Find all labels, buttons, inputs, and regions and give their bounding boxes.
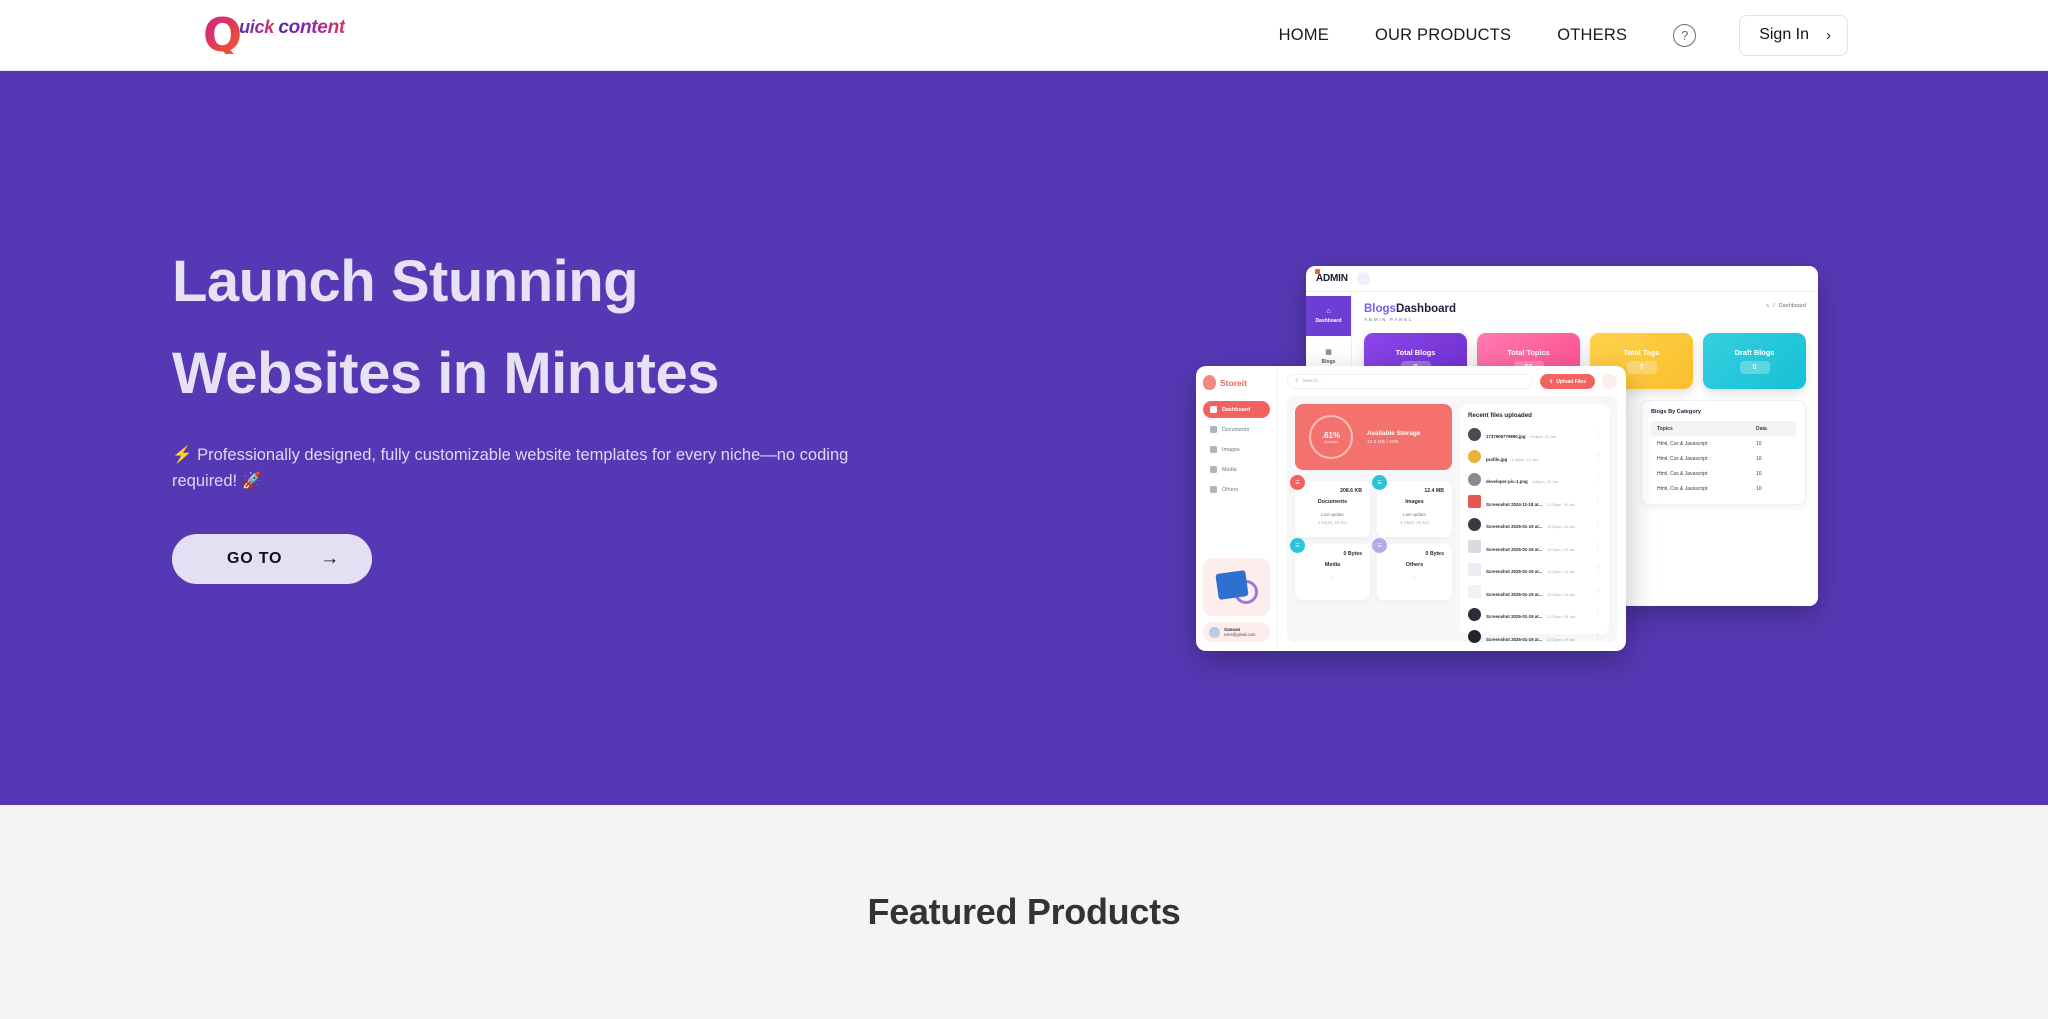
file-thumbnail	[1468, 630, 1481, 643]
breadcrumb-separator: /	[1773, 303, 1775, 309]
storeit-sidebar: Storeit Dashboard Documents Images	[1196, 366, 1278, 651]
logo-line-1: uick	[239, 17, 274, 37]
file-info: Screenshot 2025-01-19 at... 12:23pm, 19 …	[1486, 515, 1590, 533]
file-info: Screenshot 2025-01-19 at... 12:23pm, 19 …	[1486, 628, 1590, 646]
list-item[interactable]: Screenshot 2025-01-19 at... 12:23pm, 19 …	[1468, 538, 1601, 556]
others-icon	[1210, 486, 1217, 493]
card-size: 0 Bytes	[1385, 551, 1444, 557]
more-options-icon[interactable]: ⋮	[1595, 635, 1601, 639]
file-name: Screenshot 2025-01-19 at...	[1486, 637, 1542, 642]
file-thumbnail	[1468, 518, 1481, 531]
recent-files-panel: Recent files uploaded 1737606779890.jpg …	[1460, 404, 1609, 634]
storeit-item-images[interactable]: Images	[1203, 441, 1270, 458]
admin-subtitle: ADMIN PANEL	[1364, 317, 1456, 322]
file-info: Screenshot 2025-01-19 at... 12:23pm, 19 …	[1486, 538, 1590, 556]
storage-card-documents[interactable]: ☰ 208.6 KB Documents Last update 2:54pm,…	[1295, 481, 1370, 537]
file-date: 1:06pm, 19 Jan	[1512, 458, 1538, 462]
cell-data: 10	[1756, 471, 1790, 477]
storeit-panel: .61% Uploaded Available Storage 12.6 MB …	[1287, 396, 1617, 642]
admin-title-block: BlogsDashboard ADMIN PANEL	[1364, 303, 1456, 322]
list-item[interactable]: Screenshot 2025-01-19 at... 12:23pm, 19 …	[1468, 628, 1601, 646]
more-options-icon[interactable]: ⋮	[1595, 500, 1601, 504]
file-thumbnail	[1468, 428, 1481, 441]
cell-topic: Html, Css & Javascript	[1657, 471, 1756, 477]
card-name: Documents	[1303, 499, 1362, 505]
file-date: 12:23pm, 19 Jan	[1547, 570, 1575, 574]
table-row: Html, Css & Javascript 10	[1651, 436, 1796, 451]
file-name: developer-pic-1.png	[1486, 479, 1528, 484]
nav-item-home[interactable]: HOME	[1279, 26, 1329, 45]
table-row: Html, Css & Javascript 10	[1651, 451, 1796, 466]
storeit-label-documents: Documents	[1222, 427, 1249, 433]
storeit-item-dashboard[interactable]: Dashboard	[1203, 401, 1270, 418]
search-input[interactable]: ⚲ Search...	[1287, 374, 1533, 389]
search-placeholder: Search...	[1303, 379, 1322, 384]
card-size: 0 Bytes	[1303, 551, 1362, 557]
cell-topic: Html, Css & Javascript	[1657, 486, 1756, 492]
file-name: Screenshot 2025-01-19 at...	[1486, 569, 1542, 574]
card-date: 4:34am, 20 Jan	[1385, 520, 1444, 525]
storage-type-cards: ☰ 208.6 KB Documents Last update 2:54pm,…	[1295, 481, 1452, 600]
arrow-right-icon: →	[320, 548, 340, 570]
storeit-label-media: Media	[1222, 467, 1237, 473]
cell-topic: Html, Css & Javascript	[1657, 441, 1756, 447]
user-profile[interactable]: Sansan user@gmail.com	[1203, 622, 1270, 642]
storage-donut-chart: .61% Uploaded	[1309, 415, 1353, 459]
menu-icon[interactable]	[1357, 272, 1370, 285]
storage-percent: .61%	[1322, 431, 1340, 440]
admin-title-pre: Blogs	[1364, 303, 1396, 315]
column-topics: Topics	[1657, 426, 1756, 432]
storeit-dashboard-window: Storeit Dashboard Documents Images	[1196, 366, 1626, 651]
nav-item-our-products[interactable]: OUR PRODUCTS	[1375, 26, 1511, 45]
file-name: profile.jpg	[1486, 457, 1507, 462]
file-name: Screenshot 2025-01-19 at...	[1486, 524, 1542, 529]
logo-q-icon: Q	[203, 16, 242, 54]
storeit-label-images: Images	[1222, 447, 1240, 453]
user-email: user@gmail.com	[1224, 632, 1255, 637]
stat-value: 0	[1740, 361, 1770, 374]
file-thumbnail	[1468, 608, 1481, 621]
card-last-update: Last update	[1385, 512, 1444, 517]
storeit-body: Storeit Dashboard Documents Images	[1196, 366, 1626, 651]
file-date: 12:23pm, 19 Jan	[1547, 615, 1575, 619]
upload-icon: ⇧	[1549, 379, 1553, 385]
stat-card-draft-blogs[interactable]: Draft Blogs 0	[1703, 333, 1806, 389]
more-options-icon[interactable]: ⋮	[1595, 545, 1601, 549]
file-info: developer-pic-1.png 1:05pm, 19 Jan	[1486, 470, 1590, 488]
storeit-brand[interactable]: Storeit	[1203, 375, 1270, 390]
file-date: 1:05pm, 19 Jan	[1532, 480, 1558, 484]
storage-card-media[interactable]: ☰ 0 Bytes Media -	[1295, 544, 1370, 600]
product-mockup: ADMIN ⌂ Dashboard ▦ Blogs ⧉ Add Blog	[1196, 261, 1726, 791]
file-info: Screenshot 2025-01-19 at... 12:23pm, 19 …	[1486, 605, 1590, 623]
cell-data: 10	[1756, 456, 1790, 462]
user-info: Sansan user@gmail.com	[1224, 627, 1255, 637]
profile-icon[interactable]	[1602, 374, 1617, 389]
avatar	[1209, 627, 1220, 638]
card-name: Others	[1385, 562, 1444, 568]
file-name: 1737606779890.jpg	[1486, 434, 1526, 439]
stat-value: 7	[1627, 361, 1657, 374]
file-info: 1737606779890.jpg 4:04pm, 22 Jan	[1486, 425, 1590, 443]
more-options-icon[interactable]: ⋮	[1595, 567, 1601, 571]
go-to-label: GO TO	[227, 550, 282, 568]
admin-page-title: BlogsDashboard	[1364, 303, 1456, 315]
storeit-item-media[interactable]: Media	[1203, 461, 1270, 478]
upload-label: Upload Files	[1556, 379, 1586, 385]
featured-products-title: Featured Products	[868, 891, 1181, 933]
file-date: 4:04pm, 22 Jan	[1530, 435, 1556, 439]
document-icon	[1210, 426, 1217, 433]
file-date: 12:24pm, 19 Jan	[1547, 503, 1575, 507]
others-icon: ☰	[1372, 538, 1387, 553]
storage-title: Available Storage	[1367, 430, 1420, 437]
list-item[interactable]: Screenshot 2025-01-19 at... 12:23pm, 19 …	[1468, 515, 1601, 533]
file-thumbnail	[1468, 495, 1481, 508]
file-thumbnail	[1468, 585, 1481, 598]
admin-title-post: Dashboard	[1396, 303, 1456, 315]
upload-files-button[interactable]: ⇧ Upload Files	[1540, 374, 1595, 389]
admin-topbar: ADMIN	[1306, 266, 1818, 292]
file-info: Screenshot 2024-11-18 at... 12:24pm, 19 …	[1486, 493, 1590, 511]
media-icon: ☰	[1290, 538, 1305, 553]
card-size: 12.4 MB	[1385, 488, 1444, 494]
image-icon: ☰	[1372, 475, 1387, 490]
hero-copy: Launch Stunning Websites in Minutes ⚡ Pr…	[172, 236, 932, 584]
stat-title: Total Topics	[1507, 348, 1549, 357]
card-size: 208.6 KB	[1303, 488, 1362, 494]
storage-card-images[interactable]: ☰ 12.4 MB Images Last update 4:34am, 20 …	[1377, 481, 1452, 537]
file-thumbnail	[1468, 563, 1481, 576]
list-item[interactable]: developer-pic-1.png 1:05pm, 19 Jan ⋮	[1468, 470, 1601, 488]
more-options-icon[interactable]: ⋮	[1595, 477, 1601, 481]
card-date: 2:54pm, 10 Jan	[1303, 520, 1362, 525]
more-options-icon[interactable]: ⋮	[1595, 522, 1601, 526]
storage-percent-sub: Uploaded	[1324, 440, 1339, 444]
table-header-row: Topics Data	[1651, 421, 1796, 436]
storeit-main: ⚲ Search... ⇧ Upload Files	[1278, 366, 1626, 651]
stat-title: Draft Blogs	[1735, 348, 1775, 357]
chevron-right-icon: ›	[1826, 27, 1831, 44]
sign-in-button[interactable]: Sign In ›	[1739, 15, 1848, 56]
list-item[interactable]: Screenshot 2024-11-18 at... 12:24pm, 19 …	[1468, 493, 1601, 511]
file-thumbnail	[1468, 450, 1481, 463]
file-thumbnail	[1468, 473, 1481, 486]
dashboard-icon	[1210, 406, 1217, 413]
file-name: Screenshot 2025-01-19 at...	[1486, 547, 1542, 552]
sidebar-item-dashboard[interactable]: ⌂ Dashboard	[1306, 296, 1351, 336]
go-to-button[interactable]: GO TO →	[172, 534, 372, 584]
storeit-brand-label: Storeit	[1220, 378, 1247, 388]
list-item[interactable]: Screenshot 2025-01-19 at... 12:23pm, 19 …	[1468, 605, 1601, 623]
file-thumbnail	[1468, 540, 1481, 553]
table-row: Html, Css & Javascript 10	[1651, 481, 1796, 496]
admin-brand: ADMIN	[1316, 273, 1348, 284]
hero-subtitle: ⚡ Professionally designed, fully customi…	[172, 442, 872, 494]
list-item[interactable]: 1737606779890.jpg 4:04pm, 22 Jan ⋮	[1468, 425, 1601, 443]
column-data: Data	[1756, 426, 1790, 432]
home-icon: ⌂	[1326, 308, 1330, 315]
storeit-topbar: ⚲ Search... ⇧ Upload Files	[1287, 374, 1617, 389]
breadcrumb-current: Dashboard	[1779, 303, 1806, 309]
image-icon	[1210, 446, 1217, 453]
file-info: Screenshot 2025-01-19 at... 12:23pm, 19 …	[1486, 560, 1590, 578]
available-storage-card: .61% Uploaded Available Storage 12.6 MB …	[1295, 404, 1452, 470]
card-name: Images	[1385, 499, 1444, 505]
sign-in-label: Sign In	[1759, 26, 1809, 44]
document-icon: ☰	[1290, 475, 1305, 490]
more-options-icon[interactable]: ⋮	[1595, 612, 1601, 616]
logo-line-2: content	[278, 17, 345, 38]
search-icon: ⚲	[1295, 379, 1299, 384]
card-name: Media	[1303, 562, 1362, 568]
blogs-by-category-title: Blogs By Category	[1651, 409, 1796, 415]
stat-title: Total Tags	[1624, 348, 1660, 357]
card-last-update: -	[1385, 575, 1444, 580]
brand-logo[interactable]: Q uick content	[203, 16, 345, 54]
storeit-label-others: Others	[1222, 487, 1238, 493]
hero-section: Launch Stunning Websites in Minutes ⚡ Pr…	[0, 71, 2048, 805]
hero-title-line-1: Launch Stunning	[172, 236, 932, 328]
stat-title: Total Blogs	[1396, 348, 1436, 357]
storage-card-others[interactable]: ☰ 0 Bytes Others -	[1377, 544, 1452, 600]
featured-products-section: Featured Products	[0, 805, 2048, 1019]
logo-wordmark: uick content	[239, 19, 345, 38]
card-last-update: -	[1303, 575, 1362, 580]
file-date: 12:23pm, 19 Jan	[1547, 525, 1575, 529]
file-info: Screenshot 2025-01-19 at... 12:23pm, 19 …	[1486, 583, 1590, 601]
recent-files-title: Recent files uploaded	[1468, 412, 1601, 419]
storeit-left-column: .61% Uploaded Available Storage 12.6 MB …	[1295, 404, 1452, 634]
more-options-icon[interactable]: ⋮	[1595, 455, 1601, 459]
more-options-icon[interactable]: ⋮	[1595, 590, 1601, 594]
main-nav: HOME OUR PRODUCTS OTHERS ? Sign In ›	[1279, 15, 2048, 56]
grid-icon: ▦	[1325, 348, 1332, 356]
breadcrumb: ⌂ / Dashboard	[1766, 303, 1806, 309]
file-date: 12:23pm, 19 Jan	[1547, 548, 1575, 552]
cell-topic: Html, Css & Javascript	[1657, 456, 1756, 462]
blogs-by-category-panel: Blogs By Category Topics Data Html, Css …	[1641, 400, 1806, 505]
help-icon[interactable]: ?	[1673, 24, 1696, 47]
sidebar-label-dashboard: Dashboard	[1315, 318, 1341, 324]
sidebar-label-blogs: Blogs	[1322, 359, 1336, 365]
file-name: Screenshot 2024-11-18 at...	[1486, 502, 1542, 507]
file-date: 12:23pm, 19 Jan	[1547, 638, 1575, 642]
file-name: Screenshot 2025-01-19 at...	[1486, 614, 1542, 619]
nav-item-others[interactable]: OTHERS	[1557, 26, 1627, 45]
cell-data: 10	[1756, 441, 1790, 447]
admin-header-row: BlogsDashboard ADMIN PANEL ⌂ / Dashboard	[1364, 303, 1806, 322]
cell-data: 10	[1756, 486, 1790, 492]
storeit-item-others[interactable]: Others	[1203, 481, 1270, 498]
storage-value: 12.6 MB / 2GB	[1367, 440, 1420, 445]
file-name: Screenshot 2025-01-19 at...	[1486, 592, 1542, 597]
file-info: profile.jpg 1:06pm, 19 Jan	[1486, 448, 1590, 466]
storeit-item-documents[interactable]: Documents	[1203, 421, 1270, 438]
storage-text: Available Storage 12.6 MB / 2GB	[1367, 430, 1420, 445]
list-item[interactable]: profile.jpg 1:06pm, 19 Jan ⋮	[1468, 448, 1601, 466]
site-header: Q uick content HOME OUR PRODUCTS OTHERS …	[0, 0, 2048, 71]
list-item[interactable]: Screenshot 2025-01-19 at... 12:23pm, 19 …	[1468, 583, 1601, 601]
breadcrumb-home-icon[interactable]: ⌂	[1766, 303, 1769, 309]
card-last-update: Last update	[1303, 512, 1362, 517]
sidebar-illustration	[1203, 558, 1270, 616]
storeit-logo-icon	[1203, 375, 1216, 390]
storeit-label-dashboard: Dashboard	[1222, 407, 1250, 413]
more-options-icon[interactable]: ⋮	[1595, 432, 1601, 436]
list-item[interactable]: Screenshot 2025-01-19 at... 12:23pm, 19 …	[1468, 560, 1601, 578]
file-date: 12:23pm, 19 Jan	[1547, 593, 1575, 597]
media-icon	[1210, 466, 1217, 473]
table-row: Html, Css & Javascript 10	[1651, 466, 1796, 481]
hero-title-line-2: Websites in Minutes	[172, 328, 932, 420]
